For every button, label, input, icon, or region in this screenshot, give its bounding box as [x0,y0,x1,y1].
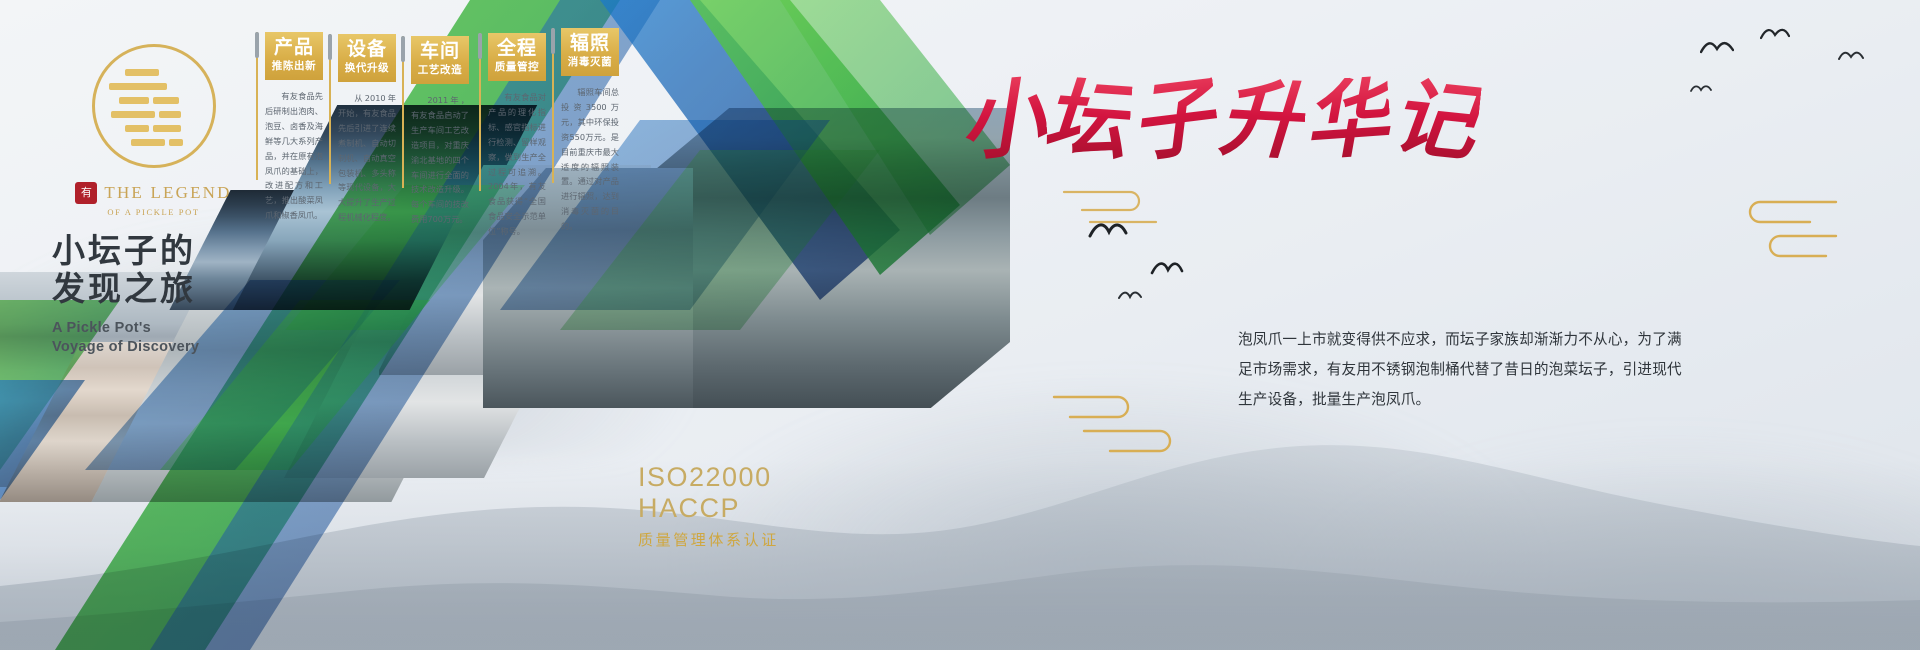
card-body: 2011年，有友食品启动了生产车间工艺改造项目，对重庆渝北基地的四个车间进行全面… [411,93,469,227]
card-subheading: 工艺改造 [415,64,465,78]
legend-en: THE LEGEND [104,183,231,203]
photo-factory-campus [650,108,1010,408]
card-body: 有友食品先后研制出泡肉、泡豆、卤香及海鲜等几大系列产品，并在原有泡凤爪的基础上，… [265,89,323,223]
card-heading: 产品 [269,37,319,58]
brand-title-en-line1: A Pickle Pot's [46,319,261,339]
brush-char: 子 [1126,73,1222,167]
brush-char: 小 [957,74,1050,165]
card-badge: 辐照 消毒灭菌 [561,28,619,76]
bird-icon [1838,48,1864,66]
bird-icon [1760,25,1790,45]
brush-char: 坛 [1042,75,1134,165]
card-badge: 产品 推陈出新 [265,32,323,80]
brand-title-en-line2: Voyage of Discovery [46,338,261,358]
card-body: 辐照车间总投资3500万元，其中环保投资550万元。是目前重庆市最大适度的辐照装… [561,85,619,234]
cert-iso-line: ISO22000 [638,462,779,493]
legend-wordmark: 有 THE LEGEND [46,182,261,204]
brand-stamp-icon: 有 [75,182,97,204]
brand-title-cn-line2: 发现之旅 [46,269,261,309]
pickle-pot-seal-icon [92,44,216,168]
bird-icon [1690,82,1712,97]
timeline-card-equipment: 设备 换代升级 从2010年开始，有友食品先后引进了连续煮制机、自动切制机、自动… [338,34,396,225]
cert-haccp-line: HACCP [638,493,779,524]
card-badge: 车间 工艺改造 [411,36,469,84]
bird-icon [1118,288,1142,304]
legend-en-sub: OF A PICKLE POT [46,207,261,217]
cert-caption: 质量管理体系认证 [638,529,779,550]
timeline-card-workshop: 车间 工艺改造 2011年，有友食品启动了生产车间工艺改造项目，对重庆渝北基地的… [411,36,469,227]
brush-char: 华 [1301,75,1393,165]
timeline-card-quality: 全程 质量管控 有友食品对产品的理化指标、感官指标进行检测、留样观察，做到生产全… [488,33,546,239]
brush-title: 小 坛 子 升 华 记 [960,78,1480,208]
bird-icon [1088,218,1128,244]
timeline-card-product: 产品 推陈出新 有友食品先后研制出泡肉、泡豆、卤香及海鲜等几大系列产品，并在原有… [265,32,323,223]
bird-icon [1150,258,1184,280]
card-heading: 车间 [415,41,465,62]
card-heading: 设备 [342,39,392,60]
timeline-card-irradiation: 辐照 消毒灭菌 辐照车间总投资3500万元，其中环保投资550万元。是目前重庆市… [561,28,619,234]
card-body: 从2010年开始，有友食品先后引进了连续煮制机、自动切制机、自动真空包装机、多头… [338,91,396,225]
card-body: 有友食品对产品的理化指标、感官指标进行检测、留样观察，做到生产全过程可追溯。20… [488,90,546,239]
card-badge: 全程 质量管控 [488,33,546,81]
brush-char: 升 [1217,76,1307,164]
banner-paragraph: 泡凤爪一上市就变得供不应求，而坛子家族却渐渐力不从心，为了满足市场需求，有友用不… [1238,325,1693,415]
cloud-ornament-center-icon [1040,375,1240,465]
bird-icon [1700,38,1734,60]
card-heading: 全程 [492,38,542,59]
card-subheading: 质量管控 [492,61,542,75]
card-subheading: 推陈出新 [269,60,319,74]
cloud-ornament-right-icon [1640,190,1840,270]
card-badge: 设备 换代升级 [338,34,396,82]
card-subheading: 消毒灭菌 [565,56,615,70]
brush-char: 记 [1388,74,1482,167]
card-subheading: 换代升级 [342,62,392,76]
brand-title-cn-line1: 小坛子的 [46,231,261,271]
certification-block: ISO22000 HACCP 质量管理体系认证 [638,462,779,550]
card-heading: 辐照 [565,33,615,54]
brand-logo-block: 有 THE LEGEND OF A PICKLE POT 小坛子的 发现之旅 A… [46,44,261,358]
banner-root: 有 THE LEGEND OF A PICKLE POT 小坛子的 发现之旅 A… [0,0,1920,650]
